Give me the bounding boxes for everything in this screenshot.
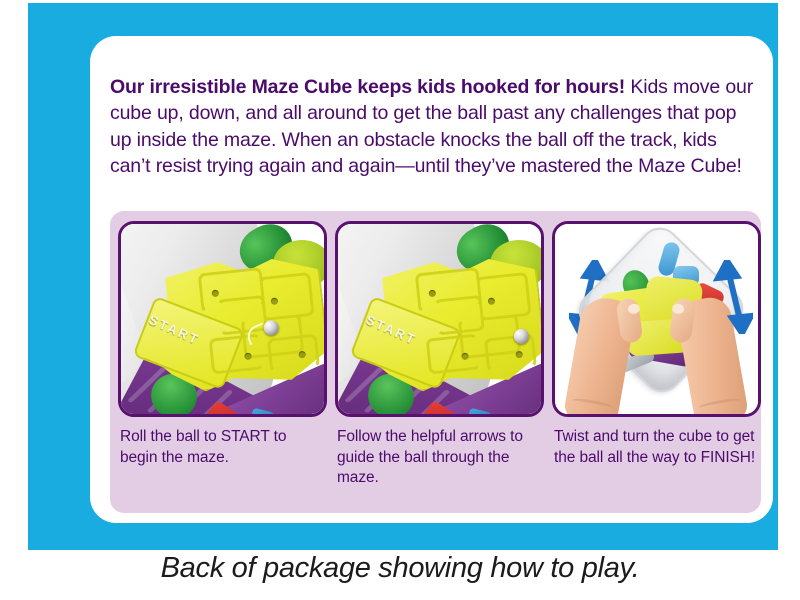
left-thumbnail <box>627 303 640 315</box>
right-knuckles <box>698 397 741 411</box>
right-thumb <box>669 297 697 344</box>
left-knuckles <box>571 397 614 411</box>
rotate-right-arrow-icon <box>713 260 753 334</box>
how-to-play-steps: START Roll the ball to START to begin th… <box>110 211 761 513</box>
headline-paragraph: Our irresistible Maze Cube keeps kids ho… <box>110 74 758 180</box>
headline-lead: Our irresistible Maze Cube keeps kids ho… <box>110 76 625 98</box>
image-caption: Back of package showing how to play. <box>0 552 800 585</box>
step-2-figure: START <box>335 221 544 417</box>
yellow-maze-face: START <box>356 249 544 397</box>
maze-illustration-ball-moving: START <box>338 224 541 414</box>
step-1-caption: Roll the ball to START to begin the maze… <box>118 427 327 468</box>
step-2-caption: Follow the helpful arrows to guide the b… <box>335 427 544 489</box>
right-thumbnail <box>671 303 684 315</box>
step-1: START Roll the ball to START to begin th… <box>118 221 327 468</box>
white-content-card: Our irresistible Maze Cube keeps kids ho… <box>90 36 773 523</box>
maze-illustration-start: START <box>121 224 324 414</box>
yellow-maze-face: START <box>139 249 327 397</box>
hands-twisting-cube-illustration <box>555 224 758 414</box>
blue-package-frame: Our irresistible Maze Cube keeps kids ho… <box>28 3 778 550</box>
step-1-figure: START <box>118 221 327 417</box>
step-3: Twist and turn the cube to get the ball … <box>552 221 761 468</box>
step-3-caption: Twist and turn the cube to get the ball … <box>552 427 761 468</box>
step-3-figure <box>552 221 761 417</box>
step-2: START Follow the helpful arrows to guide… <box>335 221 544 489</box>
